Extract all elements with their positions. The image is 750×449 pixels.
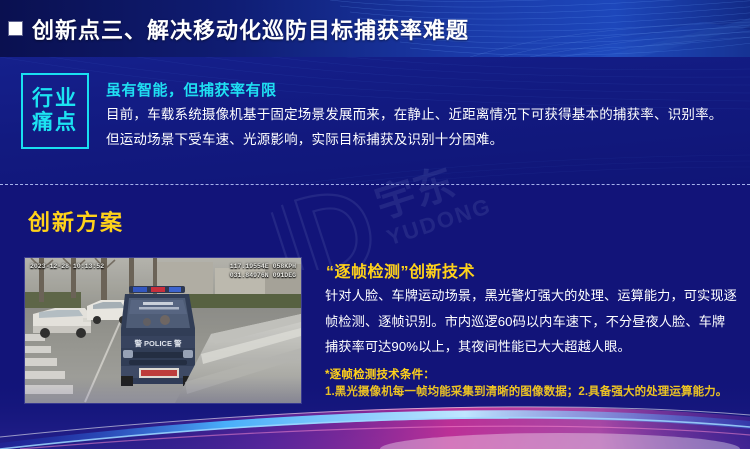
photo-gps-line-1: 117.19554E 058KPH: [230, 262, 296, 271]
bottom-swoosh-graphic: [0, 377, 750, 449]
solution-title: 创新方案: [28, 205, 124, 237]
watermark-en-text: YUDONG: [384, 193, 495, 250]
pain-badge-line-2: 痛点: [32, 111, 78, 135]
pain-point-badge: 行业 痛点: [21, 73, 89, 149]
square-bullet-icon: [9, 22, 22, 35]
slide-header: 创新点三、解决移动化巡防目标捕获率难题: [0, 0, 750, 57]
header-title-row: 创新点三、解决移动化巡防目标捕获率难题: [0, 0, 469, 57]
bottom-decoration: [0, 377, 750, 449]
section-divider: [0, 184, 750, 185]
photo-timestamp-overlay: 2023-12-28 10:13:52: [30, 263, 104, 270]
page-title: 创新点三、解决移动化巡防目标捕获率难题: [32, 13, 469, 45]
pain-point-heading: 虽有智能，但捕获率有限: [106, 79, 277, 100]
slide-root: 创新点三、解决移动化巡防目标捕获率难题 行业 痛点 虽有智能，但捕: [0, 0, 750, 449]
tech-heading: “逐帧检测”创新技术: [326, 258, 475, 282]
tech-body: 针对人脸、车牌运动场景，黑光警灯强大的处理、运算能力，可实现逐帧检测、逐帧识别。…: [325, 283, 737, 360]
photo-gps-overlay: 117.19554E 058KPH 031.84976N 091DEG: [230, 262, 296, 281]
photo-gps-line-2: 031.84976N 091DEG: [230, 271, 296, 280]
pain-point-section: 行业 痛点 虽有智能，但捕获率有限 目前，车载系统摄像机基于固定场景发展而来，在…: [0, 57, 750, 184]
pain-point-body: 目前，车载系统摄像机基于固定场景发展而来，在静止、近距离情况下可获得基本的捕获率…: [106, 103, 736, 153]
pain-badge-line-1: 行业: [32, 87, 78, 111]
